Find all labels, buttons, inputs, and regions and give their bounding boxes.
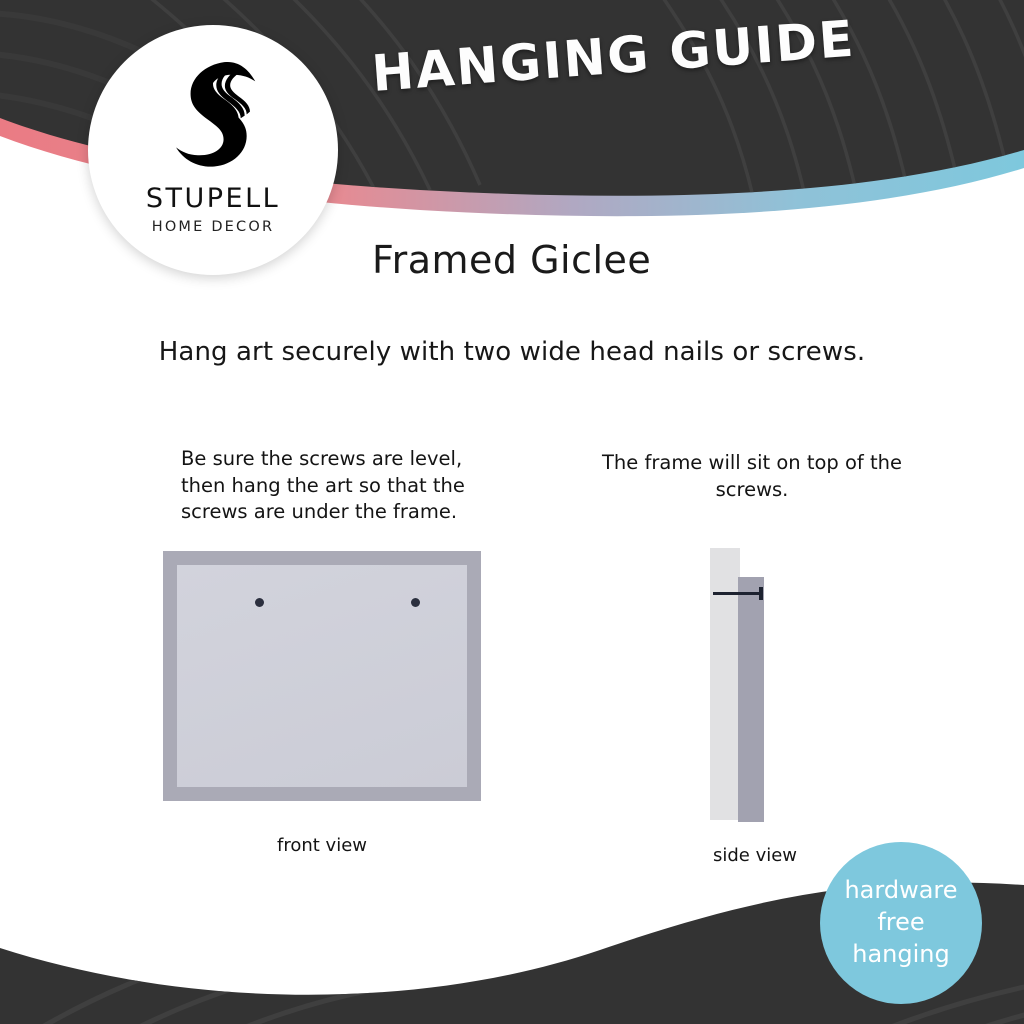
main-instruction-text: Hang art securely with two wide head nai… (0, 337, 1024, 367)
front-view-diagram (163, 551, 481, 801)
badge-line-2: free (877, 907, 924, 939)
front-view-caption: Be sure the screws are level, then hang … (181, 446, 481, 526)
hardware-free-hanging-badge: hardware free hanging (820, 842, 982, 1004)
frame-bar-shape (738, 577, 764, 822)
logo-wordmark: STUPELL (146, 183, 280, 214)
side-view-label: side view (655, 845, 855, 866)
page-title: HANGING GUIDE (370, 10, 857, 103)
product-type-label: Framed Giclee (372, 238, 651, 282)
screw-dot-left-icon (255, 598, 264, 607)
wall-bar-shape (710, 548, 740, 820)
screw-dot-right-icon (411, 598, 420, 607)
front-view-label: front view (163, 835, 481, 856)
brand-logo-badge: STUPELL HOME DECOR (88, 25, 338, 275)
nail-head-icon (759, 587, 763, 600)
hanging-guide-page: STUPELL HOME DECOR HANGING GUIDE Framed … (0, 0, 1024, 1024)
nail-shaft-icon (713, 592, 761, 595)
badge-line-1: hardware (844, 875, 957, 907)
stupell-swirl-icon (147, 47, 279, 179)
badge-line-3: hanging (852, 939, 949, 971)
side-view-caption: The frame will sit on top of the screws. (592, 450, 912, 503)
side-view-diagram (700, 545, 810, 820)
logo-tagline: HOME DECOR (152, 219, 275, 235)
front-view-artwork-area (177, 565, 467, 787)
